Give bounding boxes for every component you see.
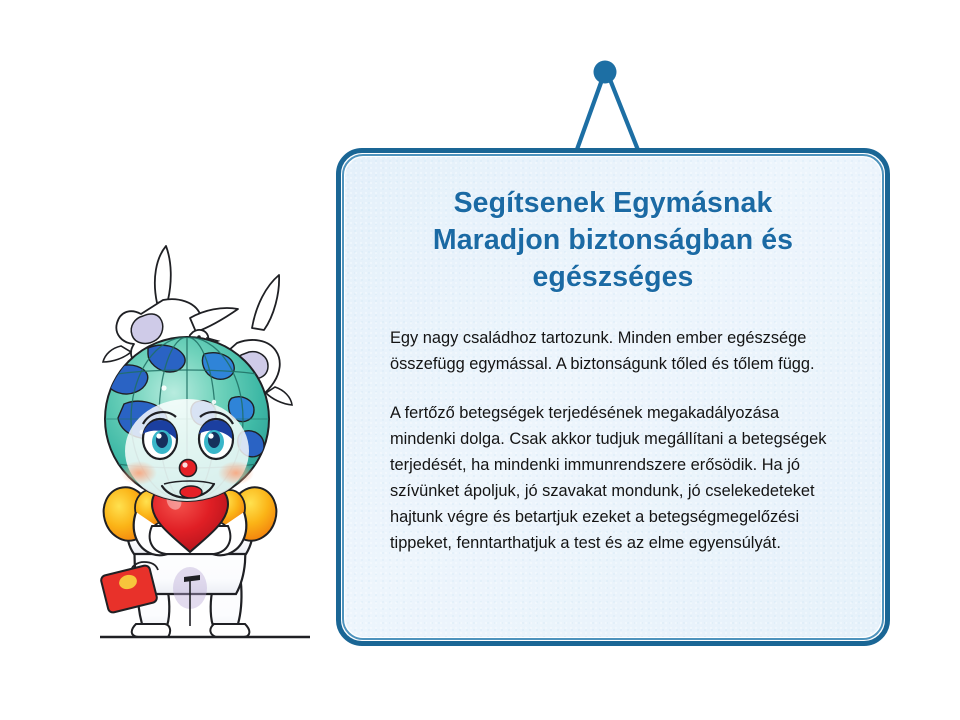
sign-title-line-2: Maradjon biztonságban és bbox=[433, 224, 793, 256]
sign-board: Segítsenek Egymásnak Maradjon biztonságb… bbox=[336, 148, 890, 646]
sign-title-line-3: egészséges bbox=[532, 261, 693, 293]
hanger-knob-icon bbox=[594, 61, 617, 84]
hanger-cord-left bbox=[575, 77, 603, 155]
sign-title: Segítsenek Egymásnak Maradjon biztonságb… bbox=[373, 185, 853, 296]
mascot-illustration bbox=[86, 196, 336, 648]
sign-paragraph-1: Egy nagy családhoz tartozunk. Minden emb… bbox=[390, 326, 843, 378]
sign-panel: Segítsenek Egymásnak Maradjon biztonságb… bbox=[345, 157, 881, 637]
sign-body-text: Egy nagy családhoz tartozunk. Minden emb… bbox=[373, 326, 853, 556]
slide-canvas: Segítsenek Egymásnak Maradjon biztonságb… bbox=[0, 0, 960, 720]
sign-paragraph-2: A fertőző betegségek terjedésének megaka… bbox=[390, 401, 843, 557]
hanger-cord-right bbox=[609, 77, 640, 155]
sign-content: Segítsenek Egymásnak Maradjon biztonságb… bbox=[345, 157, 881, 637]
sign-title-line-1: Segítsenek Egymásnak bbox=[454, 187, 773, 219]
